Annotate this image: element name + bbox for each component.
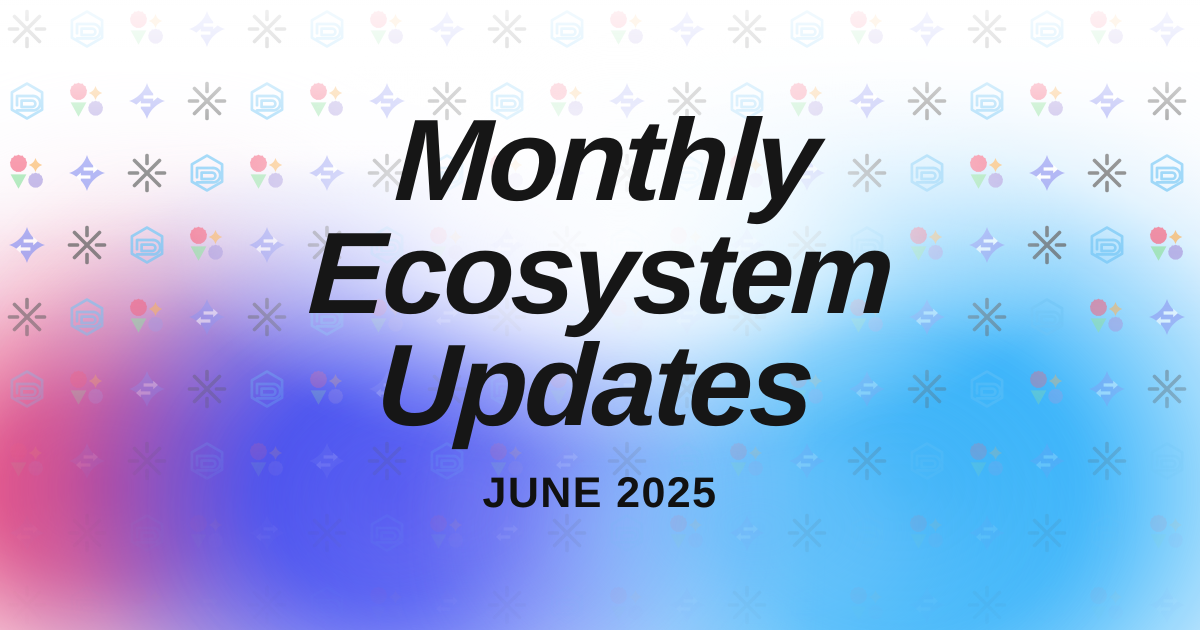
banner-text-block: Monthly Ecosystem Updates JUNE 2025 <box>0 104 1200 515</box>
issue-date-label: JUNE 2025 <box>0 472 1200 515</box>
page-title-line-2: Ecosystem <box>0 217 1200 330</box>
monthly-ecosystem-updates-banner: Monthly Ecosystem Updates JUNE 2025 <box>0 0 1200 630</box>
page-title-line-3: Updates <box>0 329 1197 442</box>
page-title: Monthly Ecosystem Updates <box>0 104 1200 442</box>
page-title-line-1: Monthly <box>3 104 1200 217</box>
